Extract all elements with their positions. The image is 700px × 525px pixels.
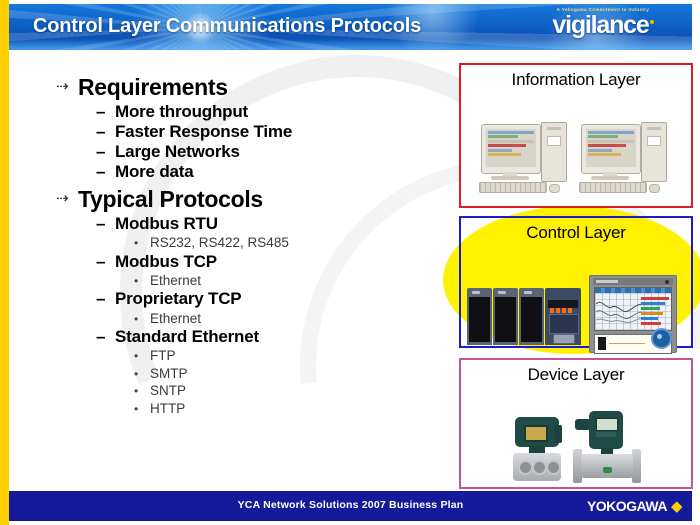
control-layer-panel: Control Layer	[459, 216, 693, 348]
dashed-arrow-icon: ⇢	[56, 191, 78, 206]
led-display	[548, 300, 578, 308]
workstation-pc	[479, 120, 571, 198]
slide: Control Layer Communications Protocols A…	[0, 0, 700, 525]
transmitter-manifold	[513, 453, 561, 481]
vigilance-logo: A Yokogawa Commitment to Industry vigila…	[528, 7, 678, 38]
flowmeter-buttons	[596, 432, 616, 437]
list-item-label: Standard Ethernet	[115, 327, 259, 347]
list-item-label: More data	[115, 162, 194, 182]
dash-bullet-icon: –	[96, 289, 115, 309]
magnetic-flowmeter-icon	[571, 411, 643, 489]
dot-bullet-icon: •	[134, 274, 150, 290]
list-item: – Large Networks	[96, 142, 416, 162]
trend-curves	[596, 296, 644, 326]
sub-list-item-label: FTP	[150, 347, 176, 365]
dash-bullet-icon: –	[96, 122, 115, 142]
transmitter-housing	[515, 417, 559, 447]
list-item-label: Faster Response Time	[115, 122, 292, 142]
keyboard-icon	[579, 182, 647, 193]
list-item: – Faster Response Time	[96, 122, 416, 142]
information-layer-panel: Information Layer	[459, 63, 693, 208]
section-heading-requirements: ⇢ Requirements	[56, 74, 416, 101]
sub-list-item: • HTTP	[134, 400, 416, 418]
sub-list-item: • SMTP	[134, 365, 416, 383]
list-item-label: Modbus TCP	[115, 252, 217, 272]
monitor-base	[491, 176, 529, 180]
title-bar-sheen	[9, 38, 692, 50]
controller-module	[519, 288, 544, 345]
sub-list-item-label: Ethernet	[150, 310, 201, 328]
list-item-label: More throughput	[115, 102, 248, 122]
list-item: – Proprietary TCP	[96, 289, 416, 309]
mouse-icon	[549, 184, 560, 193]
sub-list-item: • RS232, RS422, RS485	[134, 234, 416, 252]
sub-list-item-label: SNTP	[150, 382, 186, 400]
list-item-label: Proprietary TCP	[115, 289, 241, 309]
transmitter-display-window	[524, 425, 548, 442]
controller-cpu-unit	[545, 288, 581, 345]
sub-list-item-label: Ethernet	[150, 272, 201, 290]
field-device-group	[505, 411, 647, 489]
dot-bullet-icon: •	[134, 384, 150, 400]
yokogawa-diamond-icon: ◆	[671, 498, 682, 515]
dot-bullet-icon: •	[134, 349, 150, 365]
recorder-trend-display	[594, 287, 672, 331]
yokogawa-logo-text: YOKOGAWA	[587, 498, 667, 514]
vigilance-wordmark-text: vigilance	[552, 11, 648, 39]
pressure-transmitter-icon	[511, 417, 565, 485]
list-item: – More throughput	[96, 102, 416, 122]
control-layer-caption: Control Layer	[461, 218, 691, 243]
sub-list-item: • SNTP	[134, 382, 416, 400]
monitor-icon	[581, 124, 641, 174]
section-heading-label: Requirements	[78, 74, 228, 101]
vigilance-wordmark: vigilance	[528, 13, 678, 38]
sub-list-item-label: RS232, RS422, RS485	[150, 234, 289, 252]
workstation-group	[475, 116, 675, 198]
trend-tag-bars	[640, 295, 670, 327]
cpu-front-panel	[549, 314, 579, 334]
recorder-header	[593, 278, 673, 285]
mouse-icon	[649, 184, 660, 193]
tower-pc-icon	[641, 122, 667, 182]
dot-bullet-icon: •	[134, 402, 150, 418]
recorder-nav-dial	[651, 328, 672, 349]
page-title: Control Layer Communications Protocols	[33, 15, 421, 38]
left-accent-stripe	[0, 0, 9, 525]
controller-module	[467, 288, 492, 345]
cpu-port	[553, 334, 575, 344]
keyboard-icon	[479, 182, 547, 193]
title-bar: Control Layer Communications Protocols A…	[9, 4, 692, 50]
sub-list-item: • Ethernet	[134, 310, 416, 328]
recorder-pen	[598, 337, 606, 350]
sub-list-item-label: SMTP	[150, 365, 188, 383]
paperless-recorder-icon	[589, 275, 677, 353]
hmi-screen	[486, 129, 536, 167]
list-item: – Modbus RTU	[96, 214, 416, 234]
section-heading-typical-protocols: ⇢ Typical Protocols	[56, 186, 416, 213]
flowmeter-flange-right	[632, 449, 641, 483]
sub-list-item: • FTP	[134, 347, 416, 365]
list-item-label: Large Networks	[115, 142, 240, 162]
dash-bullet-icon: –	[96, 162, 115, 182]
footer-bar: YCA Network Solutions 2007 Business Plan…	[9, 491, 692, 521]
flowmeter-tube-body	[581, 454, 633, 478]
device-layer-caption: Device Layer	[461, 360, 691, 385]
recorder-chart-line	[609, 343, 645, 344]
dash-bullet-icon: –	[96, 327, 115, 347]
dot-bullet-icon: •	[134, 236, 150, 252]
list-item: – Standard Ethernet	[96, 327, 416, 347]
list-item: – More data	[96, 162, 416, 182]
flowmeter-lcd-display	[596, 418, 618, 431]
monitor-icon	[481, 124, 541, 174]
dash-bullet-icon: –	[96, 102, 115, 122]
tower-pc-icon	[541, 122, 567, 182]
section-heading-label: Typical Protocols	[78, 186, 263, 213]
flowmeter-converter-housing	[589, 411, 623, 449]
information-layer-caption: Information Layer	[461, 65, 691, 90]
sub-list-item-label: HTTP	[150, 400, 185, 418]
dash-bullet-icon: –	[96, 252, 115, 272]
hmi-screen	[586, 129, 636, 167]
monitor-base	[591, 176, 629, 180]
dot-bullet-icon: •	[134, 312, 150, 328]
dash-bullet-icon: –	[96, 214, 115, 234]
bullet-content: ⇢ Requirements – More throughput – Faste…	[56, 74, 416, 418]
yokogawa-logo: YOKOGAWA◆	[587, 497, 682, 515]
sub-list-item: • Ethernet	[134, 272, 416, 290]
list-item: – Modbus TCP	[96, 252, 416, 272]
device-layer-panel: Device Layer	[459, 358, 693, 489]
controller-module	[493, 288, 518, 345]
dot-bullet-icon: •	[134, 367, 150, 383]
vigilance-dot-icon	[650, 20, 654, 24]
workstation-pc	[579, 120, 671, 198]
transmitter-end-cap	[554, 425, 562, 443]
dashed-arrow-icon: ⇢	[56, 79, 78, 94]
dash-bullet-icon: –	[96, 142, 115, 162]
controller-rack-icon	[467, 285, 583, 345]
list-item-label: Modbus RTU	[115, 214, 218, 234]
